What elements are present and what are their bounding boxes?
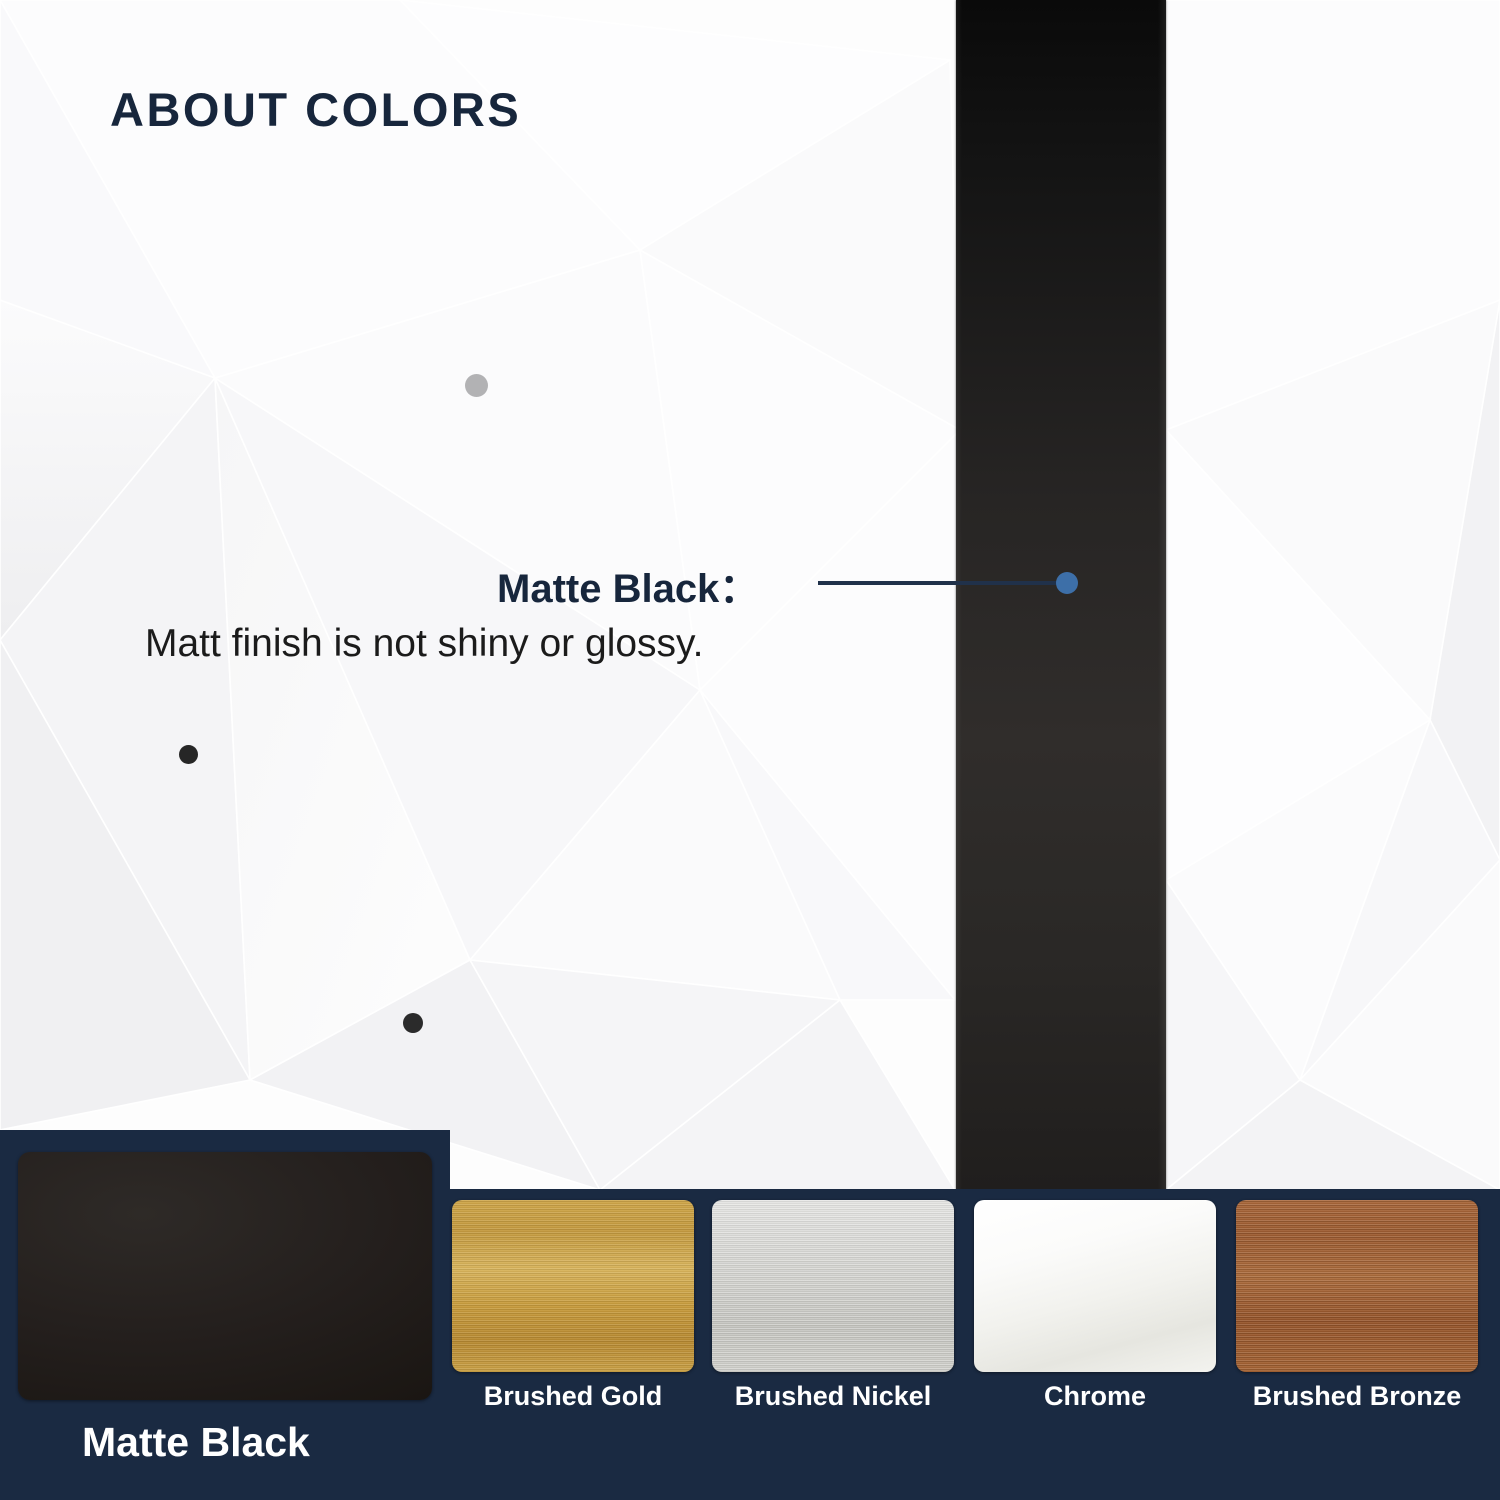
swatch-label-matte-black: Matte Black (82, 1419, 310, 1466)
swatch-label-brushed-nickel: Brushed Nickel (712, 1381, 954, 1412)
callout-description: Matt finish is not shiny or glossy. (145, 622, 704, 666)
swatch-brushed-bronze[interactable] (1236, 1200, 1478, 1372)
callout-title: Matte Black： (497, 556, 759, 614)
matte-black-product-strip (956, 0, 1166, 1192)
decor-dot-gray-icon (465, 374, 488, 397)
swatch-matte-black[interactable] (18, 1152, 432, 1400)
swatch-chrome[interactable] (974, 1200, 1216, 1372)
swatch-brushed-nickel[interactable] (712, 1200, 954, 1372)
callout-leader-line (818, 581, 1066, 585)
swatch-label-chrome: Chrome (974, 1381, 1216, 1412)
decor-dot-dark-left-icon (179, 745, 198, 764)
decor-dot-dark-lower-icon (403, 1013, 423, 1033)
page-title: ABOUT COLORS (110, 82, 521, 137)
infographic-canvas: ABOUT COLORS Matte Black： Matt finish is… (0, 0, 1500, 1500)
swatch-label-brushed-bronze: Brushed Bronze (1236, 1381, 1478, 1412)
swatch-label-brushed-gold: Brushed Gold (452, 1381, 694, 1412)
swatch-brushed-gold[interactable] (452, 1200, 694, 1372)
callout-leader-dot-icon (1056, 572, 1078, 594)
